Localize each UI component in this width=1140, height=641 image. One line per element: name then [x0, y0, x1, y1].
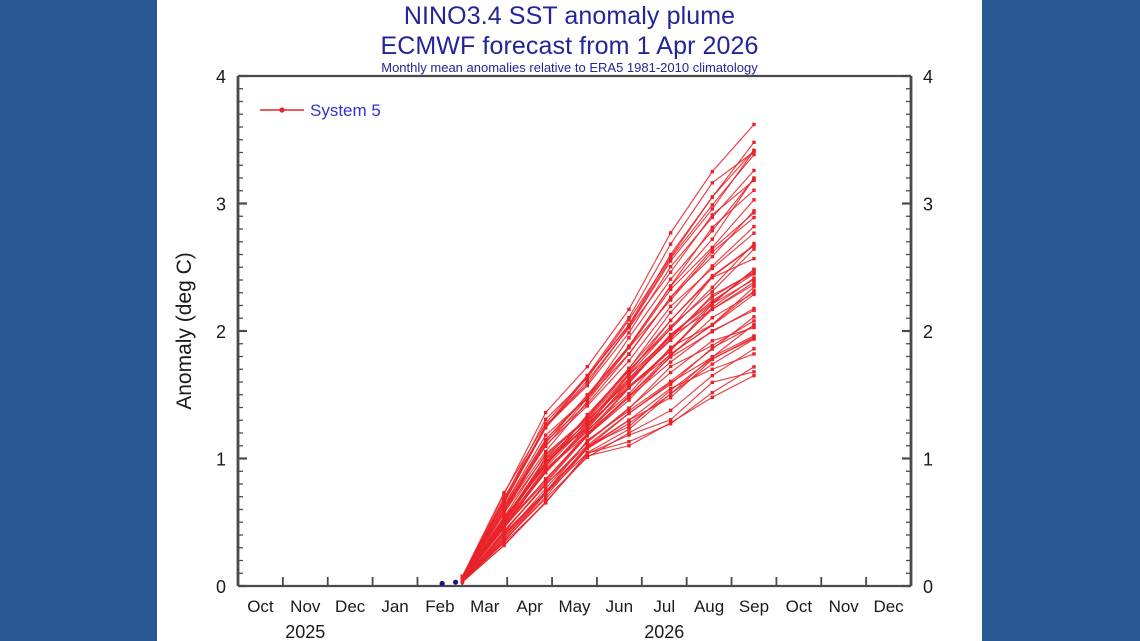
x-tick-label-month: Jan: [381, 597, 408, 616]
ensemble-member-marker: [752, 293, 755, 296]
ensemble-member-marker: [669, 352, 672, 355]
ensemble-member-marker: [544, 487, 547, 490]
ensemble-member-marker: [752, 319, 755, 322]
ensemble-member-marker: [711, 195, 714, 198]
ensemble-member-marker: [627, 394, 630, 397]
y-tick-label-left: 3: [216, 195, 226, 215]
ensemble-member-marker: [669, 418, 672, 421]
ensemble-member-marker: [544, 452, 547, 455]
ensemble-member-marker: [752, 374, 755, 377]
ensemble-member-marker: [711, 324, 714, 327]
ensemble-member-marker: [752, 326, 755, 329]
ensemble-member-marker: [544, 478, 547, 481]
ensemble-member-marker: [627, 369, 630, 372]
ensemble-member-marker: [752, 198, 755, 201]
x-tick-label-month: Sep: [739, 597, 769, 616]
ensemble-member-marker: [586, 456, 589, 459]
ensemble-member-marker: [711, 368, 714, 371]
ensemble-member-marker: [669, 409, 672, 412]
chart-figure: NINO3.4 SST anomaly plume ECMWF forecast…: [157, 0, 982, 641]
ensemble-member-marker: [752, 169, 755, 172]
ensemble-member-line: [462, 151, 754, 576]
ensemble-member-marker: [544, 497, 547, 500]
ensemble-member-marker: [711, 264, 714, 267]
ensemble-member-marker: [711, 290, 714, 293]
ensemble-member-marker: [627, 406, 630, 409]
ensemble-member-marker: [711, 339, 714, 342]
ensemble-member-marker: [669, 311, 672, 314]
ensemble-member-marker: [711, 381, 714, 384]
ensemble-member-marker: [752, 231, 755, 234]
ensemble-member-marker: [752, 150, 755, 153]
observation-point: [453, 580, 458, 585]
ensemble-member-marker: [544, 501, 547, 504]
ensemble-member-marker: [544, 462, 547, 465]
ensemble-member-marker: [752, 309, 755, 312]
ensemble-member-marker: [669, 360, 672, 363]
ensemble-member-marker: [669, 265, 672, 268]
ensemble-member-line: [462, 337, 754, 581]
ensemble-member-marker: [627, 380, 630, 383]
ensemble-member-marker: [711, 203, 714, 206]
ensemble-member-marker: [711, 207, 714, 210]
y-tick-label-right: 0: [923, 577, 933, 597]
ensemble-member-marker: [752, 289, 755, 292]
ensemble-member-marker: [586, 452, 589, 455]
ensemble-member-marker: [711, 213, 714, 216]
ensemble-member-marker: [752, 225, 755, 228]
ensemble-member-marker: [711, 181, 714, 184]
y-tick-label-left: 0: [216, 577, 226, 597]
ensemble-member-marker: [669, 319, 672, 322]
x-tick-label-month: Mar: [470, 597, 500, 616]
ensemble-plume: [461, 123, 756, 584]
ensemble-member-marker: [711, 276, 714, 279]
ensemble-member-marker: [752, 272, 755, 275]
ensemble-member-marker: [711, 295, 714, 298]
ensemble-member-marker: [627, 444, 630, 447]
legend[interactable]: System 5: [260, 101, 381, 120]
ensemble-member-marker: [669, 422, 672, 425]
ensemble-member-marker: [627, 359, 630, 362]
y-tick-label-left: 2: [216, 322, 226, 342]
ensemble-member-marker: [711, 374, 714, 377]
ensemble-member-marker: [627, 331, 630, 334]
ensemble-member-marker: [669, 270, 672, 273]
ensemble-member-marker: [711, 170, 714, 173]
screenshot-root: NINO3.4 SST anomaly plume ECMWF forecast…: [0, 0, 1140, 641]
ensemble-member-marker: [752, 257, 755, 260]
ensemble-member-marker: [669, 380, 672, 383]
ensemble-member-marker: [669, 242, 672, 245]
ensemble-member-marker: [752, 347, 755, 350]
ensemble-member-marker: [586, 374, 589, 377]
ensemble-member-marker: [752, 337, 755, 340]
ensemble-member-marker: [669, 298, 672, 301]
ensemble-member-marker: [711, 286, 714, 289]
axis-labels-group: 0011223344OctNovDecJanFebMarAprMayJunJul…: [173, 67, 933, 641]
ensemble-member-marker: [669, 333, 672, 336]
ensemble-member-marker: [752, 216, 755, 219]
ensemble-member-marker: [502, 523, 505, 526]
right-letterbox-bar: [982, 0, 1140, 641]
ensemble-member-marker: [669, 383, 672, 386]
ensemble-member-marker: [502, 541, 505, 544]
observation-point: [440, 581, 445, 586]
ensemble-member-marker: [752, 189, 755, 192]
ensemble-member-marker: [711, 396, 714, 399]
x-axis-year-label: 2026: [644, 622, 684, 641]
y-tick-label-left: 4: [216, 67, 226, 87]
ensemble-member-marker: [627, 346, 630, 349]
ensemble-member-marker: [627, 353, 630, 356]
ensemble-member-marker: [544, 411, 547, 414]
ensemble-member-marker: [627, 336, 630, 339]
ensemble-member-marker: [502, 515, 505, 518]
ensemble-member-marker: [752, 370, 755, 373]
ensemble-member-marker: [627, 377, 630, 380]
ensemble-member-marker: [711, 255, 714, 258]
ensemble-member-marker: [627, 308, 630, 311]
ensemble-member-marker: [586, 396, 589, 399]
ensemble-member-marker: [586, 417, 589, 420]
ensemble-member-marker: [669, 371, 672, 374]
ensemble-member-marker: [627, 326, 630, 329]
ensemble-member-marker: [502, 537, 505, 540]
ensemble-member-marker: [586, 400, 589, 403]
ensemble-member-marker: [461, 578, 464, 581]
ensemble-member-marker: [627, 440, 630, 443]
ensemble-member-marker: [752, 141, 755, 144]
ensemble-member-marker: [627, 425, 630, 428]
ensemble-member-marker: [586, 432, 589, 435]
legend-dot-marker: [279, 107, 284, 112]
ensemble-member-marker: [502, 508, 505, 511]
ensemble-member-line: [462, 152, 754, 577]
y-tick-label-right: 3: [923, 195, 933, 215]
ensemble-member-marker: [669, 284, 672, 287]
ensemble-member-marker: [711, 329, 714, 332]
x-tick-label-month: Jun: [606, 597, 633, 616]
left-letterbox-bar: [0, 0, 157, 641]
ensemble-member-marker: [669, 305, 672, 308]
x-tick-label-month: Jul: [653, 597, 675, 616]
ensemble-member-marker: [544, 438, 547, 441]
y-tick-label-right: 1: [923, 450, 933, 470]
ensemble-member-marker: [627, 422, 630, 425]
ensemble-member-marker: [627, 386, 630, 389]
x-tick-label-month: Apr: [516, 597, 543, 616]
ensemble-member-marker: [669, 325, 672, 328]
ensemble-member-marker: [752, 123, 755, 126]
ensemble-member-marker: [544, 426, 547, 429]
ensemble-member-marker: [711, 391, 714, 394]
ensemble-member-marker: [669, 278, 672, 281]
ensemble-member-marker: [752, 247, 755, 250]
ensemble-member-marker: [711, 302, 714, 305]
legend-label: System 5: [310, 101, 381, 120]
ensemble-member-marker: [711, 229, 714, 232]
ensemble-member-marker: [711, 316, 714, 319]
ensemble-member-marker: [752, 365, 755, 368]
ensemble-member-line: [462, 354, 754, 581]
ensemble-member-marker: [711, 362, 714, 365]
ensemble-member-marker: [752, 283, 755, 286]
ensemble-member-marker: [669, 288, 672, 291]
ensemble-member-marker: [586, 365, 589, 368]
x-tick-label-month: Feb: [425, 597, 454, 616]
ensemble-member-marker: [544, 422, 547, 425]
ensemble-member-marker: [586, 440, 589, 443]
ensemble-member-line: [462, 372, 754, 582]
ensemble-member-marker: [502, 498, 505, 501]
ensemble-member-marker: [752, 179, 755, 182]
x-tick-label-month: Dec: [335, 597, 366, 616]
ensemble-member-marker: [711, 308, 714, 311]
ensemble-member-marker: [586, 422, 589, 425]
ensemble-member-marker: [544, 445, 547, 448]
ensemble-member-marker: [669, 231, 672, 234]
x-tick-label-month: May: [558, 597, 591, 616]
plot-area: 0011223344OctNovDecJanFebMarAprMayJunJul…: [157, 0, 982, 641]
y-tick-label-right: 2: [923, 322, 933, 342]
ensemble-member-marker: [502, 491, 505, 494]
y-axis-title: Anomaly (deg C): [173, 252, 196, 410]
ensemble-member-marker: [627, 316, 630, 319]
ensemble-member-marker: [586, 444, 589, 447]
ensemble-member-marker: [669, 388, 672, 391]
ensemble-member-marker: [544, 491, 547, 494]
ensemble-member-marker: [711, 238, 714, 241]
x-axis-year-label: 2025: [285, 622, 325, 641]
ensemble-member-marker: [752, 244, 755, 247]
ensemble-member-marker: [669, 255, 672, 258]
ensemble-member-marker: [669, 396, 672, 399]
ensemble-member-marker: [669, 259, 672, 262]
ensemble-member-marker: [752, 211, 755, 214]
ensemble-member-marker: [711, 250, 714, 253]
axes-group: [238, 76, 911, 586]
ensemble-member-marker: [586, 384, 589, 387]
ensemble-member-marker: [586, 428, 589, 431]
x-tick-label-month: Nov: [290, 597, 321, 616]
ensemble-member-marker: [544, 466, 547, 469]
x-tick-label-month: Aug: [694, 597, 724, 616]
ensemble-member-marker: [544, 433, 547, 436]
x-tick-label-month: Nov: [829, 597, 860, 616]
ensemble-member-marker: [752, 352, 755, 355]
ensemble-member-marker: [669, 365, 672, 368]
ensemble-member-marker: [627, 433, 630, 436]
ensemble-member-marker: [669, 349, 672, 352]
ensemble-member-marker: [669, 393, 672, 396]
x-tick-label-month: Oct: [247, 597, 274, 616]
ensemble-member-marker: [711, 246, 714, 249]
ensemble-member-marker: [627, 418, 630, 421]
ensemble-member-marker: [752, 278, 755, 281]
y-tick-label-right: 4: [923, 67, 933, 87]
ensemble-member-marker: [752, 268, 755, 271]
ensemble-member-marker: [752, 315, 755, 318]
y-tick-label-left: 1: [216, 450, 226, 470]
ensemble-member-marker: [711, 357, 714, 360]
x-tick-label-month: Dec: [873, 597, 904, 616]
ensemble-member-marker: [711, 347, 714, 350]
ensemble-member-marker: [544, 418, 547, 421]
x-tick-label-month: Oct: [786, 597, 813, 616]
ensemble-member-marker: [544, 483, 547, 486]
